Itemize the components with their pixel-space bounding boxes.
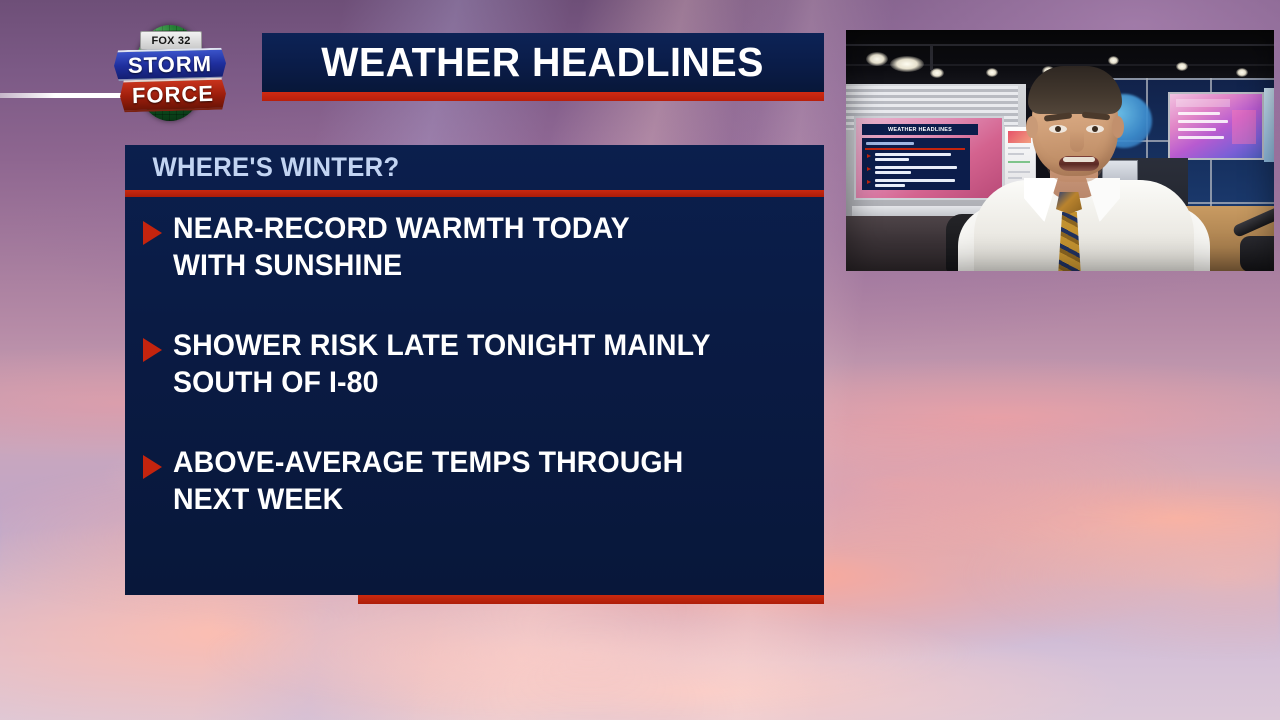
headlines-bullet-list: NEAR-RECORD WARMTH TODAY WITH SUNSHINE S… <box>125 197 824 595</box>
panel-bottom-red-bar <box>358 595 824 604</box>
mini-panel <box>862 138 970 190</box>
mini-title-bar: WEATHER HEADLINES <box>862 124 978 135</box>
headline-text: NEAR-RECORD WARMTH TODAY WITH SUNSHINE <box>173 211 630 284</box>
teeth <box>1063 157 1095 162</box>
headline-text: SHOWER RISK LATE TONIGHT MAINLY SOUTH OF… <box>173 328 711 401</box>
ear-right <box>1112 116 1124 138</box>
mini-title: WEATHER HEADLINES <box>888 127 952 133</box>
headline-text: ABOVE-AVERAGE TEMPS THROUGH NEXT WEEK <box>173 445 683 518</box>
monitor-content <box>1178 120 1228 123</box>
studio-light <box>986 68 998 77</box>
title-bar-red-underline <box>262 92 824 101</box>
mini-bullet-line <box>875 179 955 182</box>
page-title: WEATHER HEADLINES <box>322 42 765 83</box>
mini-bullet-icon <box>867 154 871 158</box>
monitor-content <box>1178 136 1224 139</box>
pupil-right <box>1092 126 1098 132</box>
hair <box>1028 66 1122 114</box>
side-line <box>1008 171 1030 173</box>
studio-light <box>890 56 924 72</box>
triangle-bullet-icon <box>143 338 162 362</box>
mini-bullet-icon <box>867 167 871 171</box>
meteorologist-video-inset: WEATHER HEADLINES <box>846 30 1274 271</box>
list-item: SHOWER RISK LATE TONIGHT MAINLY SOUTH OF… <box>125 328 824 401</box>
panel-subtitle-bar: WHERE'S WINTER? <box>125 145 824 190</box>
panel-subtitle: WHERE'S WINTER? <box>152 152 399 183</box>
wall-monitor <box>1168 92 1264 160</box>
mini-red-rule <box>865 148 965 150</box>
ear-left <box>1026 116 1038 138</box>
headlines-panel: WHERE'S WINTER? NEAR-RECORD WARMTH TODAY… <box>125 145 824 595</box>
list-item: ABOVE-AVERAGE TEMPS THROUGH NEXT WEEK <box>125 445 824 518</box>
studio-light <box>1176 62 1188 71</box>
panel-subtitle-red-underline <box>125 190 824 197</box>
mini-bullet-line <box>875 153 951 156</box>
wall-monitor-edge <box>1264 88 1274 162</box>
mini-bullet-line <box>875 184 905 187</box>
studio-light <box>866 52 888 66</box>
studio-light <box>1236 68 1248 77</box>
list-item: NEAR-RECORD WARMTH TODAY WITH SUNSHINE <box>125 211 824 284</box>
mini-bullet-line <box>875 158 909 161</box>
side-line <box>1008 147 1030 149</box>
studio-light <box>1108 56 1119 65</box>
mini-bullet-line <box>875 171 911 174</box>
ceiling-truss <box>846 44 1274 46</box>
fox32-storm-force-logo: FOX 32 STORM FORCE <box>112 23 228 123</box>
mini-bullet-line <box>875 166 957 169</box>
pupil-left <box>1055 126 1061 132</box>
monitor-content <box>1176 99 1230 107</box>
side-line <box>1008 153 1024 155</box>
triangle-bullet-icon <box>143 221 162 245</box>
mini-bullet-icon <box>867 180 871 184</box>
light-pole <box>930 46 933 70</box>
broadcast-screen: WEATHER HEADLINES WHERE'S WINTER? NEAR-R… <box>0 0 1280 720</box>
logo-storm-band: STORM <box>114 48 227 82</box>
nose <box>1070 130 1084 152</box>
side-line <box>1008 161 1030 163</box>
weather-headlines-title-bar: WEATHER HEADLINES <box>262 33 824 92</box>
monitor-content <box>1178 112 1220 115</box>
mini-subtitle-line <box>866 142 914 145</box>
foreground-equipment <box>1240 236 1274 271</box>
logo-force-band: FORCE <box>120 78 227 113</box>
monitor-content <box>1178 128 1216 131</box>
monitor-content <box>1232 110 1256 144</box>
triangle-bullet-icon <box>143 455 162 479</box>
network-badge: FOX 32 <box>140 31 202 50</box>
studio-weather-display: WEATHER HEADLINES <box>854 116 1004 200</box>
side-line <box>1008 177 1022 179</box>
